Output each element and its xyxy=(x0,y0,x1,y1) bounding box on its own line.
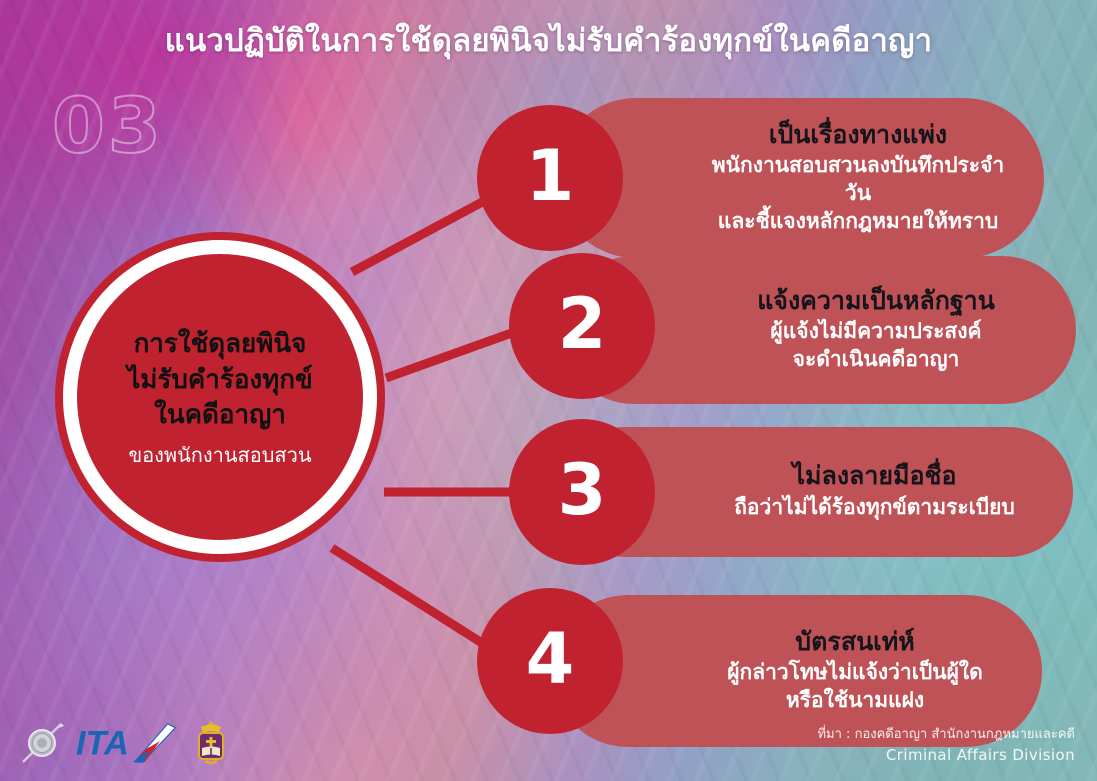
item-line-4-1: ผู้กล่าวโทษไม่แจ้งว่าเป็นผู้ใด xyxy=(727,659,983,687)
ita-logo: ITA xyxy=(76,722,181,764)
item-number-circle-3: 3 xyxy=(509,419,655,565)
item-title-1: เป็นเรื่องทางแพ่ง xyxy=(769,119,947,151)
center-hub-ring: การใช้ดุลยพินิจ ไม่รับคำร้องทุกข์ ในคดีอ… xyxy=(63,240,377,554)
item-line-1-2: และชี้แจงหลักกฎหมายให้ทราบ xyxy=(718,208,998,236)
hub-sub-text: ของพนักงานสอบสวน xyxy=(128,443,311,467)
item-number-2: 2 xyxy=(558,289,607,359)
credit-english: Criminal Affairs Division xyxy=(817,745,1075,767)
hub-main-text: การใช้ดุลยพินิจ ไม่รับคำร้องทุกข์ ในคดีอ… xyxy=(127,327,313,435)
item-pill-1: เป็นเรื่องทางแพ่ง พนักงานสอบสวนลงบันทึกป… xyxy=(556,98,1044,258)
item-number-circle-1: 1 xyxy=(477,105,623,251)
item-number-1: 1 xyxy=(526,141,575,211)
hub-main-line-2: ไม่รับคำร้องทุกข์ xyxy=(127,363,313,399)
item-number-3: 3 xyxy=(558,455,607,525)
item-line-2-1: ผู้แจ้งไม่มีความประสงค์ xyxy=(770,318,981,346)
item-line-2-2: จะดำเนินคดีอาญา xyxy=(793,346,960,374)
hub-main-line-1: การใช้ดุลยพินิจ xyxy=(127,327,313,363)
item-title-3: ไม่ลงลายมือชื่อ xyxy=(792,460,956,492)
connector-line-2 xyxy=(386,330,520,378)
hub-main-line-3: ในคดีอาญา xyxy=(127,398,313,434)
logo-row: ITA xyxy=(18,717,231,769)
government-seal-icon xyxy=(18,719,66,767)
item-pill-4: บัตรสนเท่ห์ ผู้กล่าวโทษไม่แจ้งว่าเป็นผู้… xyxy=(552,595,1042,747)
center-hub-circle: การใช้ดุลยพินิจ ไม่รับคำร้องทุกข์ ในคดีอ… xyxy=(55,232,385,562)
ita-logo-mark: ITA xyxy=(76,722,181,764)
item-line-1-1: พนักงานสอบสวนลงบันทึกประจำวัน xyxy=(706,152,1010,207)
royal-garuda-emblem-icon xyxy=(191,719,231,767)
source-credit: ที่มา : กองคดีอาญา สำนักงานกฎหมายและคดี … xyxy=(817,726,1075,767)
item-number-circle-2: 2 xyxy=(509,253,655,399)
item-title-4: บัตรสนเท่ห์ xyxy=(795,626,914,658)
item-number-4: 4 xyxy=(526,624,575,694)
item-number-circle-4: 4 xyxy=(477,588,623,734)
credit-thai: ที่มา : กองคดีอาญา สำนักงานกฎหมายและคดี xyxy=(817,726,1075,745)
svg-text:ITA: ITA xyxy=(76,724,129,762)
item-line-3-1: ถือว่าไม่ได้ร้องทุกข์ตามระเบียบ xyxy=(734,494,1015,522)
item-line-4-2: หรือใช้นามแฝง xyxy=(786,687,924,715)
item-title-2: แจ้งความเป็นหลักฐาน xyxy=(757,285,995,317)
infographic-poster: แนวปฏิบัติในการใช้ดุลยพินิจไม่รับคำร้องท… xyxy=(0,0,1097,781)
